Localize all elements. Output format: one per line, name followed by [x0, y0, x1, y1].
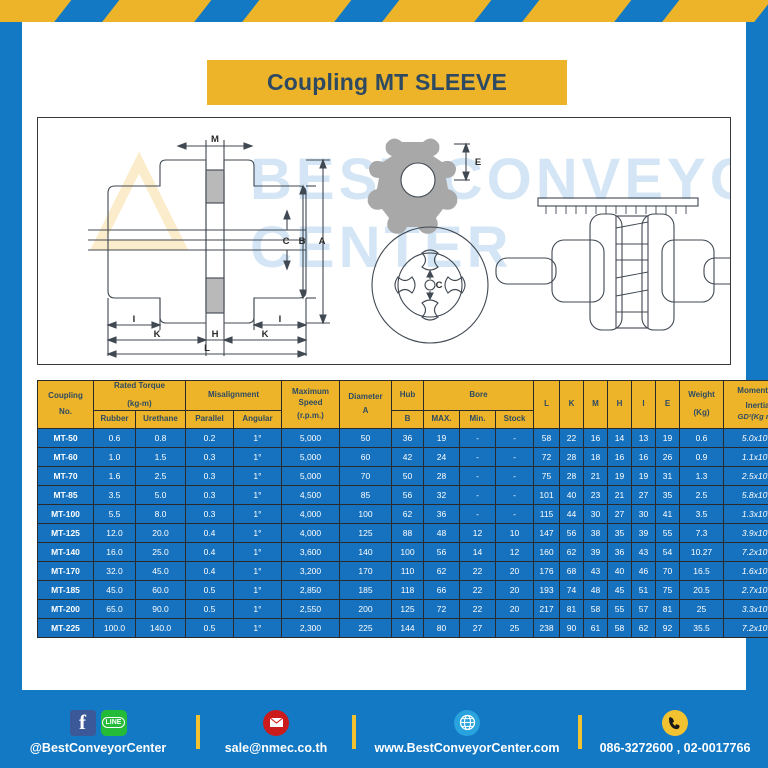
cell-angular: 1°	[234, 580, 282, 599]
cell-bore_stock: -	[496, 504, 534, 523]
cell-E: 81	[656, 599, 680, 618]
th-rubber: Rubber	[94, 410, 136, 428]
cell-bore_max: 56	[424, 542, 460, 561]
cell-E: 31	[656, 466, 680, 485]
cell-urethane: 60.0	[136, 580, 186, 599]
cell-parallel: 0.5	[186, 599, 234, 618]
inertia-mantissa: 1.1	[742, 452, 754, 462]
cell-urethane: 45.0	[136, 561, 186, 580]
cell-hub_b: 62	[392, 504, 424, 523]
inertia-mantissa: 2.7	[742, 585, 754, 595]
cell-H: 27	[608, 504, 632, 523]
cell-inertia: 3.3x10-1	[724, 599, 768, 618]
cell-speed: 4,500	[282, 485, 340, 504]
cell-K: 22	[560, 428, 584, 447]
cell-M: 39	[584, 542, 608, 561]
cell-rubber: 65.0	[94, 599, 136, 618]
cell-inertia: 2.5x10-3	[724, 466, 768, 485]
th-bore-max: MAX.	[424, 410, 460, 428]
th-K: K	[560, 381, 584, 429]
cell-weight: 16.5	[680, 561, 724, 580]
table-body: MT-500.60.80.21°5,000503619--58221614131…	[38, 428, 768, 637]
cell-weight: 7.3	[680, 523, 724, 542]
cell-bore_stock: -	[496, 466, 534, 485]
inertia-mantissa: 5.8	[742, 490, 754, 500]
cell-weight: 0.6	[680, 428, 724, 447]
cell-L: 193	[534, 580, 560, 599]
table-row: MT-601.01.50.31°5,000604224--72281816162…	[38, 447, 768, 466]
label-I-right: I	[279, 314, 282, 325]
cell-weight: 1.3	[680, 466, 724, 485]
cell-bore_stock: -	[496, 485, 534, 504]
th-urethane: Urethane	[136, 410, 186, 428]
line-icon-label: LINE	[102, 717, 126, 728]
cell-bore_min: 22	[460, 580, 496, 599]
inertia-times: x10	[754, 471, 768, 481]
cell-urethane: 2.5	[136, 466, 186, 485]
cell-I: 27	[632, 485, 656, 504]
cell-H: 36	[608, 542, 632, 561]
chevron-stripe	[236, 0, 356, 22]
cell-bore_min: -	[460, 485, 496, 504]
cell-no: MT-170	[38, 561, 94, 580]
cell-parallel: 0.2	[186, 428, 234, 447]
cell-bore_max: 36	[424, 504, 460, 523]
cell-parallel: 0.3	[186, 504, 234, 523]
inertia-mantissa: 7.2	[742, 547, 754, 557]
label-L: L	[204, 343, 210, 354]
cell-inertia: 1.3x10-2	[724, 504, 768, 523]
cell-no: MT-200	[38, 599, 94, 618]
cell-L: 101	[534, 485, 560, 504]
cell-M: 38	[584, 523, 608, 542]
cell-weight: 20.5	[680, 580, 724, 599]
th-inertia-unit: GD²(Kg m²)	[724, 412, 768, 422]
cell-inertia: 1.1x10-4	[724, 447, 768, 466]
inertia-mantissa: 1.6	[742, 566, 754, 576]
th-bore-min: Min.	[460, 410, 496, 428]
table-row: MT-701.62.50.31°5,000705028--75282119193…	[38, 466, 768, 485]
cell-M: 43	[584, 561, 608, 580]
cell-L: 160	[534, 542, 560, 561]
th-hub: Hub	[392, 381, 424, 411]
cell-H: 58	[608, 618, 632, 637]
cell-rubber: 32.0	[94, 561, 136, 580]
cell-bore_max: 24	[424, 447, 460, 466]
cell-bore_max: 62	[424, 561, 460, 580]
cell-H: 45	[608, 580, 632, 599]
cell-bore_min: 27	[460, 618, 496, 637]
table-row: MT-17032.045.00.41°3,2001701106222201766…	[38, 561, 768, 580]
footer-email[interactable]: sale@nmec.co.th	[200, 710, 352, 755]
cell-I: 19	[632, 466, 656, 485]
th-angular: Angular	[234, 410, 282, 428]
cell-rubber: 45.0	[94, 580, 136, 599]
th-rated-torque-unit: (kg-m)	[94, 399, 185, 410]
cell-bore_min: -	[460, 428, 496, 447]
cell-L: 115	[534, 504, 560, 523]
footer-social[interactable]: f LINE @BestConveyorCenter	[0, 710, 196, 755]
table-row: MT-20065.090.00.51°2,5502001257222202178…	[38, 599, 768, 618]
cell-speed: 2,550	[282, 599, 340, 618]
th-weight-l1: Weight	[680, 390, 723, 401]
inertia-mantissa: 3.3	[742, 604, 754, 614]
cell-dia: 85	[340, 485, 392, 504]
cell-parallel: 0.3	[186, 447, 234, 466]
cell-speed: 2,300	[282, 618, 340, 637]
phone-icon[interactable]	[662, 710, 688, 736]
cell-parallel: 0.3	[186, 466, 234, 485]
table-row: MT-853.55.00.31°4,500855632--10140232127…	[38, 485, 768, 504]
cell-bore_min: -	[460, 466, 496, 485]
cell-rubber: 16.0	[94, 542, 136, 561]
chevron-stripe	[516, 0, 636, 22]
cell-angular: 1°	[234, 542, 282, 561]
th-parallel: Parallel	[186, 410, 234, 428]
cell-dia: 185	[340, 580, 392, 599]
cell-I: 13	[632, 428, 656, 447]
cell-E: 75	[656, 580, 680, 599]
inertia-times: x10	[754, 433, 768, 443]
cell-I: 43	[632, 542, 656, 561]
label-A: A	[319, 236, 326, 247]
cell-weight: 35.5	[680, 618, 724, 637]
cell-speed: 3,200	[282, 561, 340, 580]
inertia-times: x10	[754, 452, 768, 462]
cell-K: 68	[560, 561, 584, 580]
cell-bore_max: 28	[424, 466, 460, 485]
th-weight: Weight (Kg)	[680, 381, 724, 429]
th-L: L	[534, 381, 560, 429]
globe-icon[interactable]	[454, 710, 480, 736]
cell-weight: 10.27	[680, 542, 724, 561]
envelope-glyph	[269, 717, 284, 728]
cell-bore_min: 22	[460, 561, 496, 580]
cell-M: 23	[584, 485, 608, 504]
cell-I: 57	[632, 599, 656, 618]
cell-angular: 1°	[234, 561, 282, 580]
cell-no: MT-185	[38, 580, 94, 599]
cell-speed: 4,000	[282, 504, 340, 523]
cell-dia: 200	[340, 599, 392, 618]
th-max-speed: Maximum Speed (r.p.m.)	[282, 381, 340, 429]
cell-H: 19	[608, 466, 632, 485]
cell-no: MT-140	[38, 542, 94, 561]
cell-speed: 5,000	[282, 466, 340, 485]
cell-E: 70	[656, 561, 680, 580]
th-E: E	[656, 381, 680, 429]
cell-L: 238	[534, 618, 560, 637]
cell-weight: 3.5	[680, 504, 724, 523]
cell-H: 14	[608, 428, 632, 447]
cell-angular: 1°	[234, 428, 282, 447]
cell-angular: 1°	[234, 485, 282, 504]
cell-K: 74	[560, 580, 584, 599]
cell-angular: 1°	[234, 599, 282, 618]
th-max-speed-l1: Maximum	[282, 387, 339, 398]
th-diameter-l1: Diameter	[340, 392, 391, 403]
cell-urethane: 5.0	[136, 485, 186, 504]
cell-L: 58	[534, 428, 560, 447]
line-icon[interactable]: LINE	[101, 710, 127, 736]
cell-rubber: 0.6	[94, 428, 136, 447]
footer-website[interactable]: www.BestConveyorCenter.com	[356, 710, 578, 755]
th-inertia-l1: Moment of	[724, 386, 768, 397]
cell-dia: 225	[340, 618, 392, 637]
label-H: H	[212, 329, 219, 340]
cell-M: 30	[584, 504, 608, 523]
cell-M: 18	[584, 447, 608, 466]
cell-hub_b: 144	[392, 618, 424, 637]
table-row: MT-12512.020.00.41°4,0001258848121014756…	[38, 523, 768, 542]
cell-hub_b: 118	[392, 580, 424, 599]
th-diameter: Diameter A	[340, 381, 392, 429]
th-diameter-l2: A	[340, 406, 391, 417]
th-H: H	[608, 381, 632, 429]
cell-K: 28	[560, 447, 584, 466]
cell-bore_stock: 20	[496, 580, 534, 599]
website-url[interactable]: www.BestConveyorCenter.com	[374, 741, 559, 755]
chevron-stripe	[376, 0, 496, 22]
page-title: Coupling MT SLEEVE	[267, 69, 507, 96]
cell-urethane: 8.0	[136, 504, 186, 523]
table-row: MT-18545.060.00.51°2,8501851186622201937…	[38, 580, 768, 599]
cell-E: 35	[656, 485, 680, 504]
cell-dia: 70	[340, 466, 392, 485]
inertia-mantissa: 3.9	[742, 528, 754, 538]
cell-rubber: 3.5	[94, 485, 136, 504]
cell-speed: 2,850	[282, 580, 340, 599]
inertia-times: x10	[754, 623, 768, 633]
cell-no: MT-70	[38, 466, 94, 485]
cell-no: MT-85	[38, 485, 94, 504]
inertia-mantissa: 7.2	[742, 623, 754, 633]
cell-L: 72	[534, 447, 560, 466]
inertia-times: x10	[754, 604, 768, 614]
cell-urethane: 0.8	[136, 428, 186, 447]
cell-K: 90	[560, 618, 584, 637]
inertia-mantissa: 5.0	[742, 433, 754, 443]
cell-E: 26	[656, 447, 680, 466]
cell-I: 51	[632, 580, 656, 599]
specification-table: Coupling No. Rated Torque (kg-m) Misalig…	[37, 380, 768, 638]
th-hub-b: B	[392, 410, 424, 428]
cell-M: 21	[584, 466, 608, 485]
cell-rubber: 5.5	[94, 504, 136, 523]
th-bore: Bore	[424, 381, 534, 411]
cell-parallel: 0.4	[186, 561, 234, 580]
cell-H: 21	[608, 485, 632, 504]
cell-bore_stock: -	[496, 447, 534, 466]
cell-E: 92	[656, 618, 680, 637]
footer-phone[interactable]: 086-3272600 , 02-0017766	[582, 710, 768, 755]
cell-hub_b: 100	[392, 542, 424, 561]
th-max-speed-unit: (r.p.m.)	[282, 411, 339, 422]
cell-inertia: 3.9x10-2	[724, 523, 768, 542]
cell-rubber: 1.0	[94, 447, 136, 466]
cell-bore_min: 14	[460, 542, 496, 561]
cell-no: MT-50	[38, 428, 94, 447]
label-M: M	[211, 134, 219, 145]
th-rated-torque: Rated Torque (kg-m)	[94, 381, 186, 411]
chevron-stripe	[656, 0, 768, 22]
th-inertia-l2: Inertia	[724, 401, 768, 412]
cell-inertia: 1.6x10-1	[724, 561, 768, 580]
cell-inertia: 7.2x10-2	[724, 542, 768, 561]
cell-bore_max: 72	[424, 599, 460, 618]
cell-hub_b: 36	[392, 428, 424, 447]
cell-I: 39	[632, 523, 656, 542]
th-max-speed-l2: Speed	[282, 398, 339, 409]
cell-bore_min: 22	[460, 599, 496, 618]
cell-angular: 1°	[234, 447, 282, 466]
inertia-times: x10	[754, 490, 768, 500]
cell-bore_min: -	[460, 504, 496, 523]
th-coupling-no: Coupling No.	[38, 381, 94, 429]
cell-no: MT-60	[38, 447, 94, 466]
cell-urethane: 20.0	[136, 523, 186, 542]
social-icons: f LINE	[70, 710, 127, 736]
th-weight-unit: (Kg)	[680, 408, 723, 419]
cell-speed: 5,000	[282, 447, 340, 466]
cell-hub_b: 42	[392, 447, 424, 466]
cell-H: 35	[608, 523, 632, 542]
cell-inertia: 5.8x10-3	[724, 485, 768, 504]
inertia-times: x10	[754, 528, 768, 538]
inertia-mantissa: 1.3	[742, 509, 754, 519]
page-title-banner: Coupling MT SLEEVE	[207, 60, 567, 105]
specification-table-wrap: Coupling No. Rated Torque (kg-m) Misalig…	[37, 380, 731, 638]
cell-L: 217	[534, 599, 560, 618]
email-address[interactable]: sale@nmec.co.th	[225, 741, 328, 755]
cell-E: 54	[656, 542, 680, 561]
cell-angular: 1°	[234, 618, 282, 637]
cell-bore_stock: 20	[496, 561, 534, 580]
th-I: I	[632, 381, 656, 429]
datasheet-page: Coupling MT SLEEVE △ BEST CONVEYOR CENTE…	[0, 0, 768, 768]
cell-I: 16	[632, 447, 656, 466]
table-row: MT-500.60.80.21°5,000503619--58221614131…	[38, 428, 768, 447]
cell-M: 58	[584, 599, 608, 618]
cell-bore_max: 80	[424, 618, 460, 637]
cell-inertia: 7.2x10-1	[724, 618, 768, 637]
cell-K: 56	[560, 523, 584, 542]
chevron-stripe	[96, 0, 216, 22]
table-row: MT-225100.0140.00.51°2,30022514480272523…	[38, 618, 768, 637]
cell-H: 55	[608, 599, 632, 618]
cell-inertia: 5.0x10-4	[724, 428, 768, 447]
cell-bore_max: 19	[424, 428, 460, 447]
cell-I: 30	[632, 504, 656, 523]
top-chevron-band	[0, 0, 768, 22]
cell-H: 16	[608, 447, 632, 466]
cell-K: 62	[560, 542, 584, 561]
cell-H: 40	[608, 561, 632, 580]
chevron-stripe	[0, 0, 76, 22]
inertia-times: x10	[754, 509, 768, 519]
inertia-mantissa: 2.5	[742, 471, 754, 481]
cell-bore_max: 66	[424, 580, 460, 599]
cell-speed: 4,000	[282, 523, 340, 542]
inertia-times: x10	[754, 585, 768, 595]
cell-bore_max: 32	[424, 485, 460, 504]
cell-I: 46	[632, 561, 656, 580]
cell-angular: 1°	[234, 504, 282, 523]
email-icon[interactable]	[263, 710, 289, 736]
cell-weight: 0.9	[680, 447, 724, 466]
cell-bore_max: 48	[424, 523, 460, 542]
cell-hub_b: 50	[392, 466, 424, 485]
cell-urethane: 25.0	[136, 542, 186, 561]
cell-dia: 100	[340, 504, 392, 523]
th-coupling-no-l1: Coupling	[38, 391, 93, 402]
label-K-right: K	[262, 329, 269, 340]
cell-parallel: 0.4	[186, 542, 234, 561]
label-K-left: K	[154, 329, 161, 340]
inertia-times: x10	[754, 566, 768, 576]
th-M: M	[584, 381, 608, 429]
globe-glyph	[459, 714, 476, 731]
cell-L: 75	[534, 466, 560, 485]
cell-dia: 50	[340, 428, 392, 447]
cell-bore_stock: 25	[496, 618, 534, 637]
cell-rubber: 1.6	[94, 466, 136, 485]
phone-number[interactable]: 086-3272600 , 02-0017766	[600, 741, 751, 755]
cell-weight: 2.5	[680, 485, 724, 504]
cell-K: 40	[560, 485, 584, 504]
cell-inertia: 2.7x10-1	[724, 580, 768, 599]
cell-parallel: 0.5	[186, 618, 234, 637]
cell-M: 61	[584, 618, 608, 637]
cell-E: 55	[656, 523, 680, 542]
th-inertia: Moment of Inertia GD²(Kg m²)	[724, 381, 768, 429]
cell-K: 44	[560, 504, 584, 523]
cell-M: 16	[584, 428, 608, 447]
cell-bore_stock: 20	[496, 599, 534, 618]
cell-hub_b: 56	[392, 485, 424, 504]
label-C-side: C	[283, 236, 290, 247]
table-row: MT-1005.58.00.31°4,0001006236--115443027…	[38, 504, 768, 523]
cell-parallel: 0.4	[186, 523, 234, 542]
content-card: Coupling MT SLEEVE △ BEST CONVEYOR CENTE…	[22, 22, 746, 690]
cell-bore_stock: 10	[496, 523, 534, 542]
table-row: MT-14016.025.00.41°3,6001401005614121606…	[38, 542, 768, 561]
cell-dia: 170	[340, 561, 392, 580]
cell-E: 41	[656, 504, 680, 523]
cell-K: 81	[560, 599, 584, 618]
cell-no: MT-225	[38, 618, 94, 637]
cell-bore_min: 12	[460, 523, 496, 542]
th-rated-torque-label: Rated Torque	[94, 381, 185, 392]
cell-I: 62	[632, 618, 656, 637]
cell-weight: 25	[680, 599, 724, 618]
facebook-icon[interactable]: f	[70, 710, 96, 736]
cell-urethane: 1.5	[136, 447, 186, 466]
cell-bore_min: -	[460, 447, 496, 466]
cell-parallel: 0.5	[186, 580, 234, 599]
coupling-drawings: M C B A I I K H K L E C	[38, 118, 731, 365]
label-B: B	[299, 236, 306, 247]
cell-rubber: 12.0	[94, 523, 136, 542]
th-misalignment: Misalignment	[186, 381, 282, 411]
cell-urethane: 90.0	[136, 599, 186, 618]
cell-angular: 1°	[234, 523, 282, 542]
cell-bore_stock: 12	[496, 542, 534, 561]
facebook-handle[interactable]: @BestConveyorCenter	[30, 741, 167, 755]
cell-no: MT-125	[38, 523, 94, 542]
label-E: E	[475, 157, 481, 168]
cell-angular: 1°	[234, 466, 282, 485]
